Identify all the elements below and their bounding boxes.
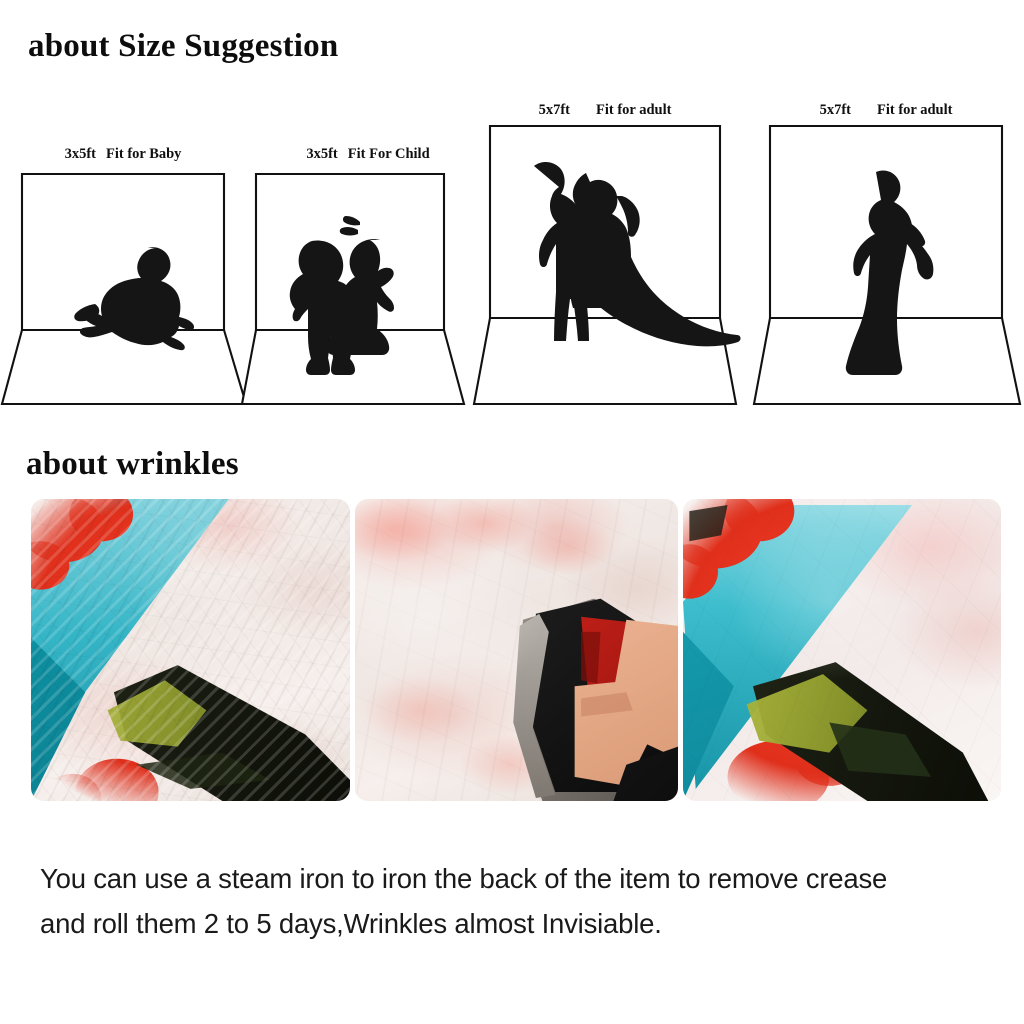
backdrop-illustration-child [248, 170, 488, 408]
size-panel-woman-label: 5x7ftFit for adult [748, 102, 1024, 119]
size-panel-row: 3x5ftFit for Baby 3x5ftFit For Child [0, 96, 1024, 416]
backdrop-illustration-baby [0, 170, 246, 408]
size-panel-woman: 5x7ftFit for adult [748, 96, 1024, 416]
backdrop-illustration-couple [472, 122, 738, 408]
size-panel-baby-label: 3x5ftFit for Baby [0, 146, 246, 163]
backdrop-illustration-woman [748, 122, 1024, 408]
size-panel-baby: 3x5ftFit for Baby [0, 96, 246, 416]
page-title-size-suggestion: about Size Suggestion [28, 28, 338, 65]
size-panel-baby-dimension: 3x5ft [65, 146, 96, 162]
size-panel-woman-fit: Fit for adult [877, 102, 952, 118]
size-panel-couple-dimension: 5x7ft [539, 102, 570, 118]
wrinkles-caption-line-2: and roll them 2 to 5 days,Wrinkles almos… [40, 901, 1020, 946]
photo-steam-iron [355, 499, 678, 801]
size-panel-baby-fit: Fit for Baby [106, 146, 181, 162]
photo-smooth-fabric [683, 499, 1001, 801]
size-panel-couple: 5x7ftFit for adult [472, 96, 738, 416]
infographic-page: about Size Suggestion 3x5ftFit for Baby [0, 0, 1024, 1024]
size-panel-couple-fit: Fit for adult [596, 102, 671, 118]
size-panel-child-fit: Fit For Child [348, 146, 430, 162]
size-panel-couple-label: 5x7ftFit for adult [472, 102, 738, 119]
wrinkles-caption: You can use a steam iron to iron the bac… [40, 856, 1020, 946]
wrinkles-caption-line-1: You can use a steam iron to iron the bac… [40, 856, 1020, 901]
size-panel-child: 3x5ftFit For Child [248, 96, 488, 416]
wrinkle-photo-strip [31, 499, 1001, 801]
section-title-wrinkles: about wrinkles [26, 446, 239, 483]
size-panel-child-label: 3x5ftFit For Child [248, 146, 488, 163]
photo-wrinkled-fabric [31, 499, 350, 801]
size-panel-child-dimension: 3x5ft [306, 146, 337, 162]
size-panel-woman-dimension: 5x7ft [820, 102, 851, 118]
